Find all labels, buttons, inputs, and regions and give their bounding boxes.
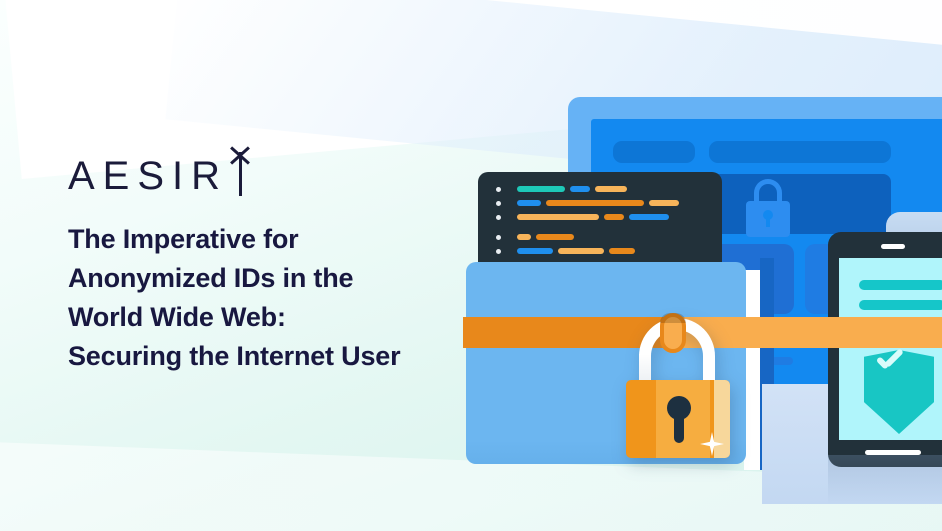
code-token-3-1 <box>517 214 599 220</box>
phone-shadow <box>828 455 942 505</box>
code-token-5-1 <box>517 248 553 254</box>
code-token-1-3 <box>595 186 627 192</box>
code-token-4-1 <box>517 234 531 240</box>
phone-text-bar-2 <box>859 300 942 310</box>
text-column: AESIR The Imperative for Anonymized IDs … <box>68 140 468 376</box>
code-token-3-3 <box>629 214 669 220</box>
main-padlock-body <box>626 380 730 458</box>
code-token-1-2 <box>570 186 590 192</box>
page-title-line-3: World Wide Web: <box>68 298 468 337</box>
code-bullet-icon <box>496 215 501 220</box>
main-padlock-edge <box>714 380 730 458</box>
code-bullet-icon <box>496 187 501 192</box>
code-token-2-1 <box>517 200 541 206</box>
code-token-4-2 <box>536 234 574 240</box>
code-line-3 <box>496 214 669 220</box>
aesir-rune-mark-icon <box>226 150 256 196</box>
monitor-padlock-icon <box>744 179 792 237</box>
code-token-2-3 <box>649 200 679 206</box>
code-line-5 <box>496 248 635 254</box>
page-title-line-1: The Imperative for <box>68 220 468 259</box>
code-line-2 <box>496 200 679 206</box>
code-line-1 <box>496 186 627 192</box>
page-title: The Imperative for Anonymized IDs in the… <box>68 220 468 376</box>
code-bullet-icon <box>496 201 501 206</box>
padlock-keyhole-stem <box>766 217 770 227</box>
monitor-gap-strip <box>744 270 760 470</box>
cover-canvas: AESIR The Imperative for Anonymized IDs … <box>0 0 942 531</box>
code-token-2-2 <box>546 200 644 206</box>
phone-screen <box>839 258 942 440</box>
code-token-5-2 <box>558 248 604 254</box>
code-token-1-1 <box>517 186 565 192</box>
code-bullet-icon <box>496 235 501 240</box>
page-title-line-4: Securing the Internet User <box>68 337 468 376</box>
brand-logo[interactable]: AESIR <box>68 140 468 196</box>
code-line-4 <box>496 234 574 240</box>
monitor-nav-pill-1 <box>613 141 695 163</box>
code-bullet-icon <box>496 249 501 254</box>
main-padlock-keyhole-stem <box>674 413 684 443</box>
brand-wordmark: AESIR <box>68 156 228 196</box>
code-token-3-2 <box>604 214 624 220</box>
phone-speaker <box>881 244 905 249</box>
code-token-5-3 <box>609 248 635 254</box>
code-editor-window <box>478 172 722 276</box>
phone-text-bar-1 <box>859 280 942 290</box>
mobile-phone <box>828 232 942 467</box>
belt-ring-shadow <box>660 313 686 323</box>
monitor-nav-pill-2 <box>709 141 891 163</box>
shield-check-icon <box>876 354 902 368</box>
page-title-line-2: Anonymized IDs in the <box>68 259 468 298</box>
